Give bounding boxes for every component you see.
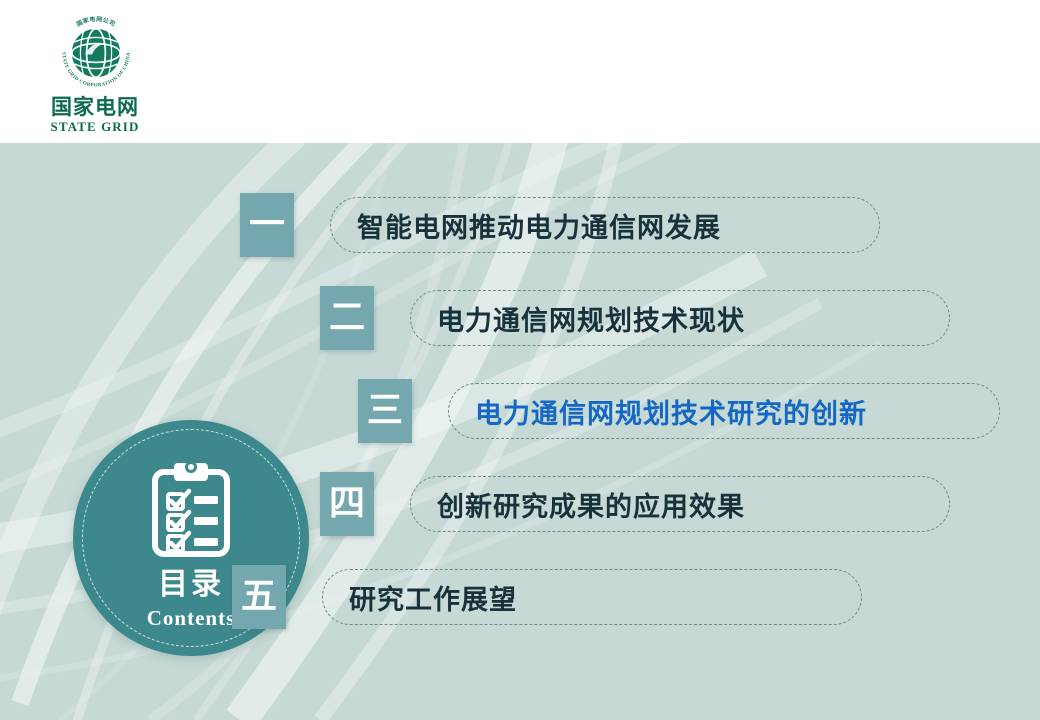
brand-logo: 国家电网公司 STATE GRID CORPORATION OF CHINA 国…	[30, 14, 160, 134]
agenda-list: 一 智能电网推动电力通信网发展 二 电力通信网规划技术现状 三 电力通信网规划技…	[0, 143, 1040, 720]
presentation-slide: 国家电网公司 STATE GRID CORPORATION OF CHINA 国…	[0, 0, 1040, 720]
agenda-pill-3[interactable]: 电力通信网规划技术研究的创新	[448, 383, 1000, 439]
agenda-label-2: 电力通信网规划技术现状	[437, 299, 745, 338]
svg-text:国家电网公司: 国家电网公司	[75, 15, 117, 28]
agenda-number-badge-3: 三	[358, 379, 412, 443]
brand-name-en: STATE GRID	[30, 120, 160, 134]
agenda-pill-5[interactable]: 研究工作展望	[322, 569, 862, 625]
agenda-label-3: 电力通信网规划技术研究的创新	[475, 392, 867, 431]
agenda-label-1: 智能电网推动电力通信网发展	[357, 206, 721, 245]
agenda-pill-1[interactable]: 智能电网推动电力通信网发展	[330, 197, 880, 253]
slide-header: 国家电网公司 STATE GRID CORPORATION OF CHINA 国…	[0, 0, 1040, 143]
agenda-number-badge-4: 四	[320, 472, 374, 536]
agenda-label-5: 研究工作展望	[349, 578, 517, 617]
state-grid-globe-logo-icon: 国家电网公司 STATE GRID CORPORATION OF CHINA	[57, 14, 135, 92]
agenda-number-badge-5: 五	[232, 565, 286, 629]
agenda-number-badge-2: 二	[320, 286, 374, 350]
slide-body: 目录 Contents 一 智能电网推动电力通信网发展 二 电力通信网规划技术现…	[0, 143, 1040, 720]
agenda-label-4: 创新研究成果的应用效果	[437, 485, 745, 524]
brand-name-cn: 国家电网	[30, 96, 160, 118]
agenda-pill-4[interactable]: 创新研究成果的应用效果	[410, 476, 950, 532]
agenda-pill-2[interactable]: 电力通信网规划技术现状	[410, 290, 950, 346]
agenda-number-badge-1: 一	[240, 193, 294, 257]
